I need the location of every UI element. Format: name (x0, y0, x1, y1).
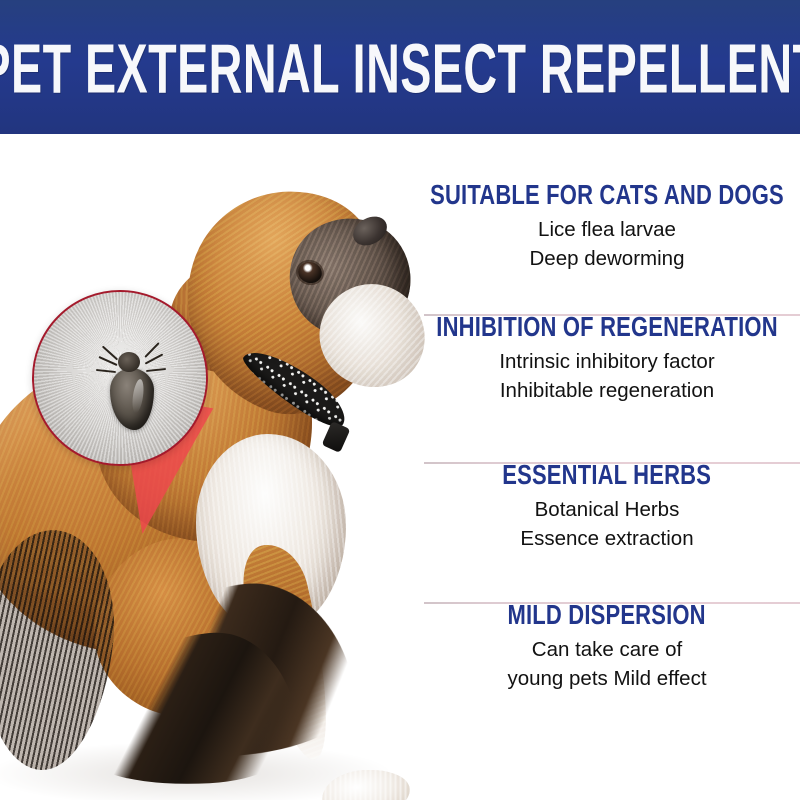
feature-line: Lice flea larvae (530, 216, 685, 244)
feature-line: Botanical Herbs (520, 496, 693, 524)
feature-lines-3: Botanical Herbs Essence extraction (520, 496, 693, 553)
feature-line: Intrinsic inhibitory factor (499, 348, 714, 376)
feature-title-4: MILD DISPERSION (508, 601, 706, 630)
collar-tag (322, 421, 351, 453)
feature-lines-1: Lice flea larvae Deep deworming (530, 216, 685, 273)
feature-list: SUITABLE FOR CATS AND DOGS Lice flea lar… (424, 178, 790, 758)
feature-line: young pets Mild effect (507, 665, 706, 693)
feature-title-3: ESSENTIAL HERBS (503, 461, 712, 490)
feature-title-1: SUITABLE FOR CATS AND DOGS (430, 181, 784, 210)
feature-title-2: INHIBITION OF REGENERATION (436, 313, 778, 342)
feature-line: Deep deworming (530, 245, 685, 273)
feature-item-4: MILD DISPERSION Can take care of young p… (424, 598, 790, 738)
feature-item-1: SUITABLE FOR CATS AND DOGS Lice flea lar… (424, 178, 790, 310)
tick-magnifier (0, 268, 300, 588)
feature-lines-4: Can take care of young pets Mild effect (507, 636, 706, 693)
feature-line: Essence extraction (520, 525, 693, 553)
feature-item-2: INHIBITION OF REGENERATION Intrinsic inh… (424, 310, 790, 458)
tick-legs-icon (96, 344, 168, 384)
page-title: PET EXTERNAL INSECT REPELLENT (0, 30, 800, 104)
header-banner: PET EXTERNAL INSECT REPELLENT (0, 0, 800, 134)
feature-line: Inhibitable regeneration (499, 377, 714, 405)
feature-lines-2: Intrinsic inhibitory factor Inhibitable … (499, 348, 714, 405)
magnifier-circle (32, 290, 208, 466)
feature-line: Can take care of (507, 636, 706, 664)
product-poster: PET EXTERNAL INSECT REPELLENT (0, 0, 800, 800)
feature-item-3: ESSENTIAL HERBS Botanical Herbs Essence … (424, 458, 790, 598)
dog-photo (0, 134, 440, 800)
